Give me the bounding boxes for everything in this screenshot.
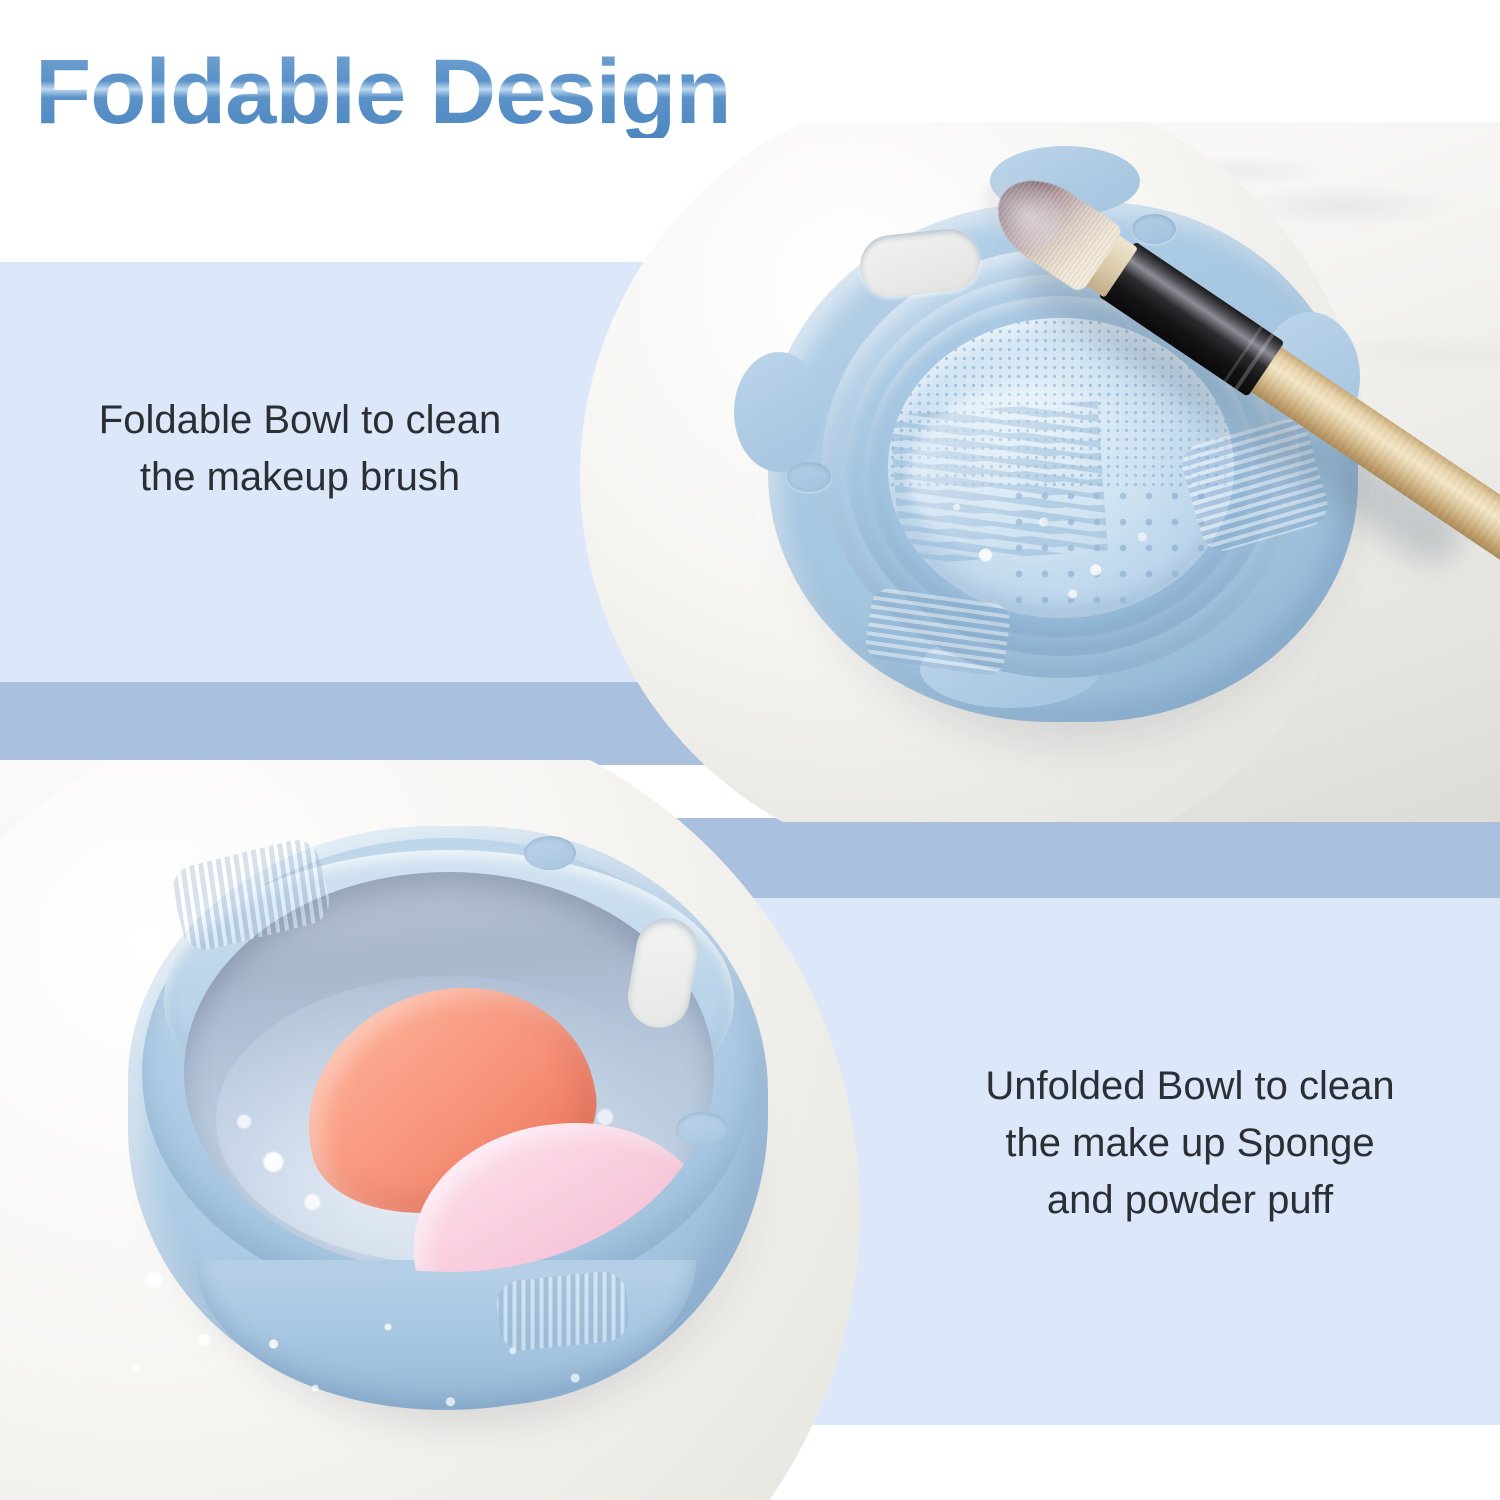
photo-foldable-bowl [560,122,1500,822]
bowl-nub-left [787,462,831,492]
page-title: Foldable Design [35,46,731,138]
bowl-nub-top [524,836,576,870]
infographic-canvas: Foldable Design Foldable Bowl to clean t… [0,0,1500,1500]
caption-foldable-bowl: Foldable Bowl to clean the makeup brush [30,392,570,506]
caption-unfolded-bowl: Unfolded Bowl to clean the make up Spong… [930,1058,1450,1228]
bowl-nub-right [676,1112,728,1146]
unfolded-bowl [80,790,840,1450]
bowl-lobe-left [734,352,824,472]
water-droplets-outer [100,1220,280,1420]
photo-unfolded-bowl [0,760,900,1500]
